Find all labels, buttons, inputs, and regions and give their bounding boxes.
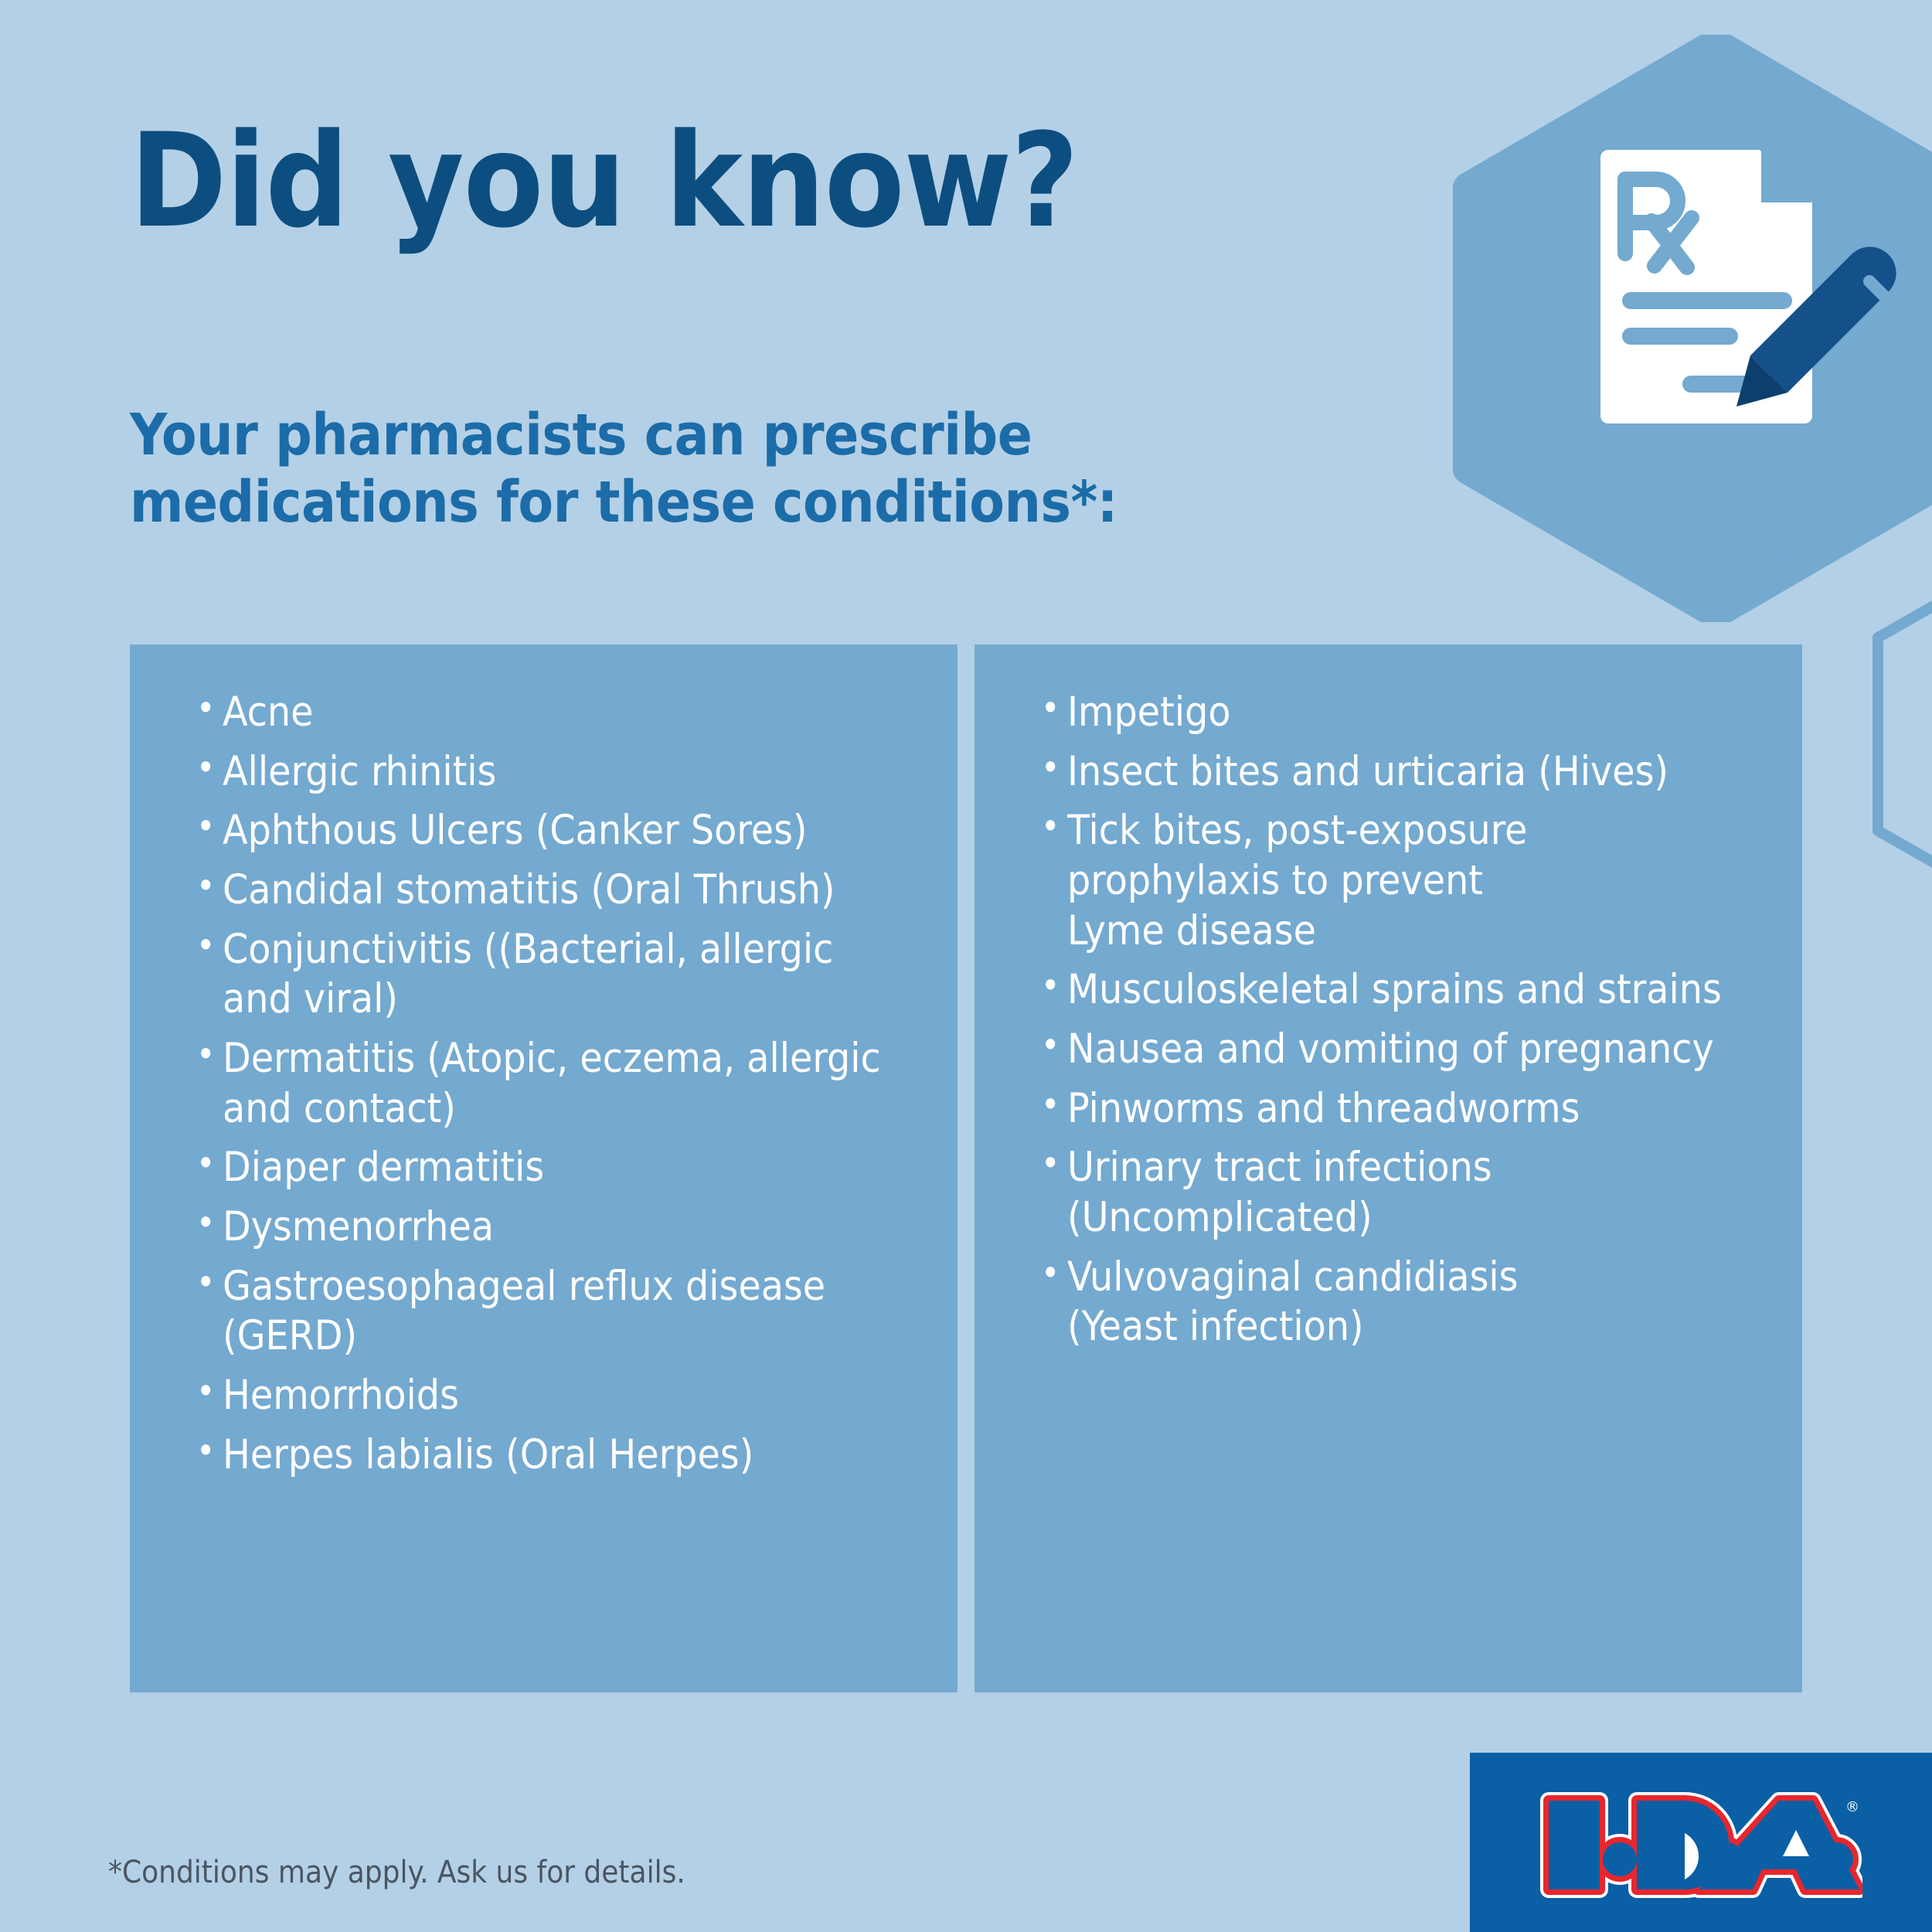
condition-list-item: Nausea and vomiting of pregnancy xyxy=(1041,1025,1776,1075)
condition-list-item: Insect bites and urticaria (Hives) xyxy=(1041,747,1776,798)
condition-list-item: Vulvovaginal candidiasis (Yeast infectio… xyxy=(1041,1253,1776,1352)
condition-list-item: Impetigo xyxy=(1041,688,1776,738)
page-subtitle: Your pharmacists can prescribe medicatio… xyxy=(130,402,1117,537)
condition-list-item: Diaper dermatitis xyxy=(196,1143,931,1193)
condition-list-item: Aphthous Ulcers (Canker Sores) xyxy=(196,806,931,856)
condition-list-item: Candidal stomatitis (Oral Thrush) xyxy=(196,866,931,916)
conditions-panel-right: ImpetigoInsect bites and urticaria (Hive… xyxy=(975,645,1802,1692)
condition-list-item: Dermatitis (Atopic, eczema, allergic and… xyxy=(196,1034,931,1134)
condition-list-item: Pinworms and threadworms xyxy=(1041,1084,1776,1134)
poster-canvas: Did you know? Your pharmacists can presc… xyxy=(0,0,1932,1932)
rx-prescription-icon xyxy=(1596,139,1897,433)
hexagon-outline-icon xyxy=(1793,541,1932,927)
condition-list-item: Tick bites, post-exposure prophylaxis to… xyxy=(1041,806,1776,956)
condition-list-item: Gastroesophageal reflux disease (GERD) xyxy=(196,1262,931,1362)
page-title: Did you know? xyxy=(130,116,1078,246)
conditions-list-left: AcneAllergic rhinitisAphthous Ulcers (Ca… xyxy=(156,688,931,1480)
condition-list-item: Musculoskeletal sprains and strains xyxy=(1041,965,1776,1015)
registered-mark: ® xyxy=(1845,1799,1859,1815)
condition-list-item: Dysmenorrhea xyxy=(196,1202,931,1253)
conditions-panels: AcneAllergic rhinitisAphthous Ulcers (Ca… xyxy=(130,645,1802,1692)
condition-list-item: Allergic rhinitis xyxy=(196,747,931,798)
condition-list-item: Urinary tract infections (Uncomplicated) xyxy=(1041,1143,1776,1243)
footnote-text: *Conditions may apply. Ask us for detail… xyxy=(108,1855,685,1890)
condition-list-item: Conjunctivitis ((Bacterial, allergic and… xyxy=(196,925,931,1025)
condition-list-item: Hemorrhoids xyxy=(196,1371,931,1421)
condition-list-item: Herpes labialis (Oral Herpes) xyxy=(196,1430,931,1481)
condition-list-item: Acne xyxy=(196,688,931,738)
ida-logo: ® xyxy=(1538,1785,1862,1905)
conditions-panel-left: AcneAllergic rhinitisAphthous Ulcers (Ca… xyxy=(130,645,957,1692)
conditions-list-right: ImpetigoInsect bites and urticaria (Hive… xyxy=(1001,688,1776,1352)
